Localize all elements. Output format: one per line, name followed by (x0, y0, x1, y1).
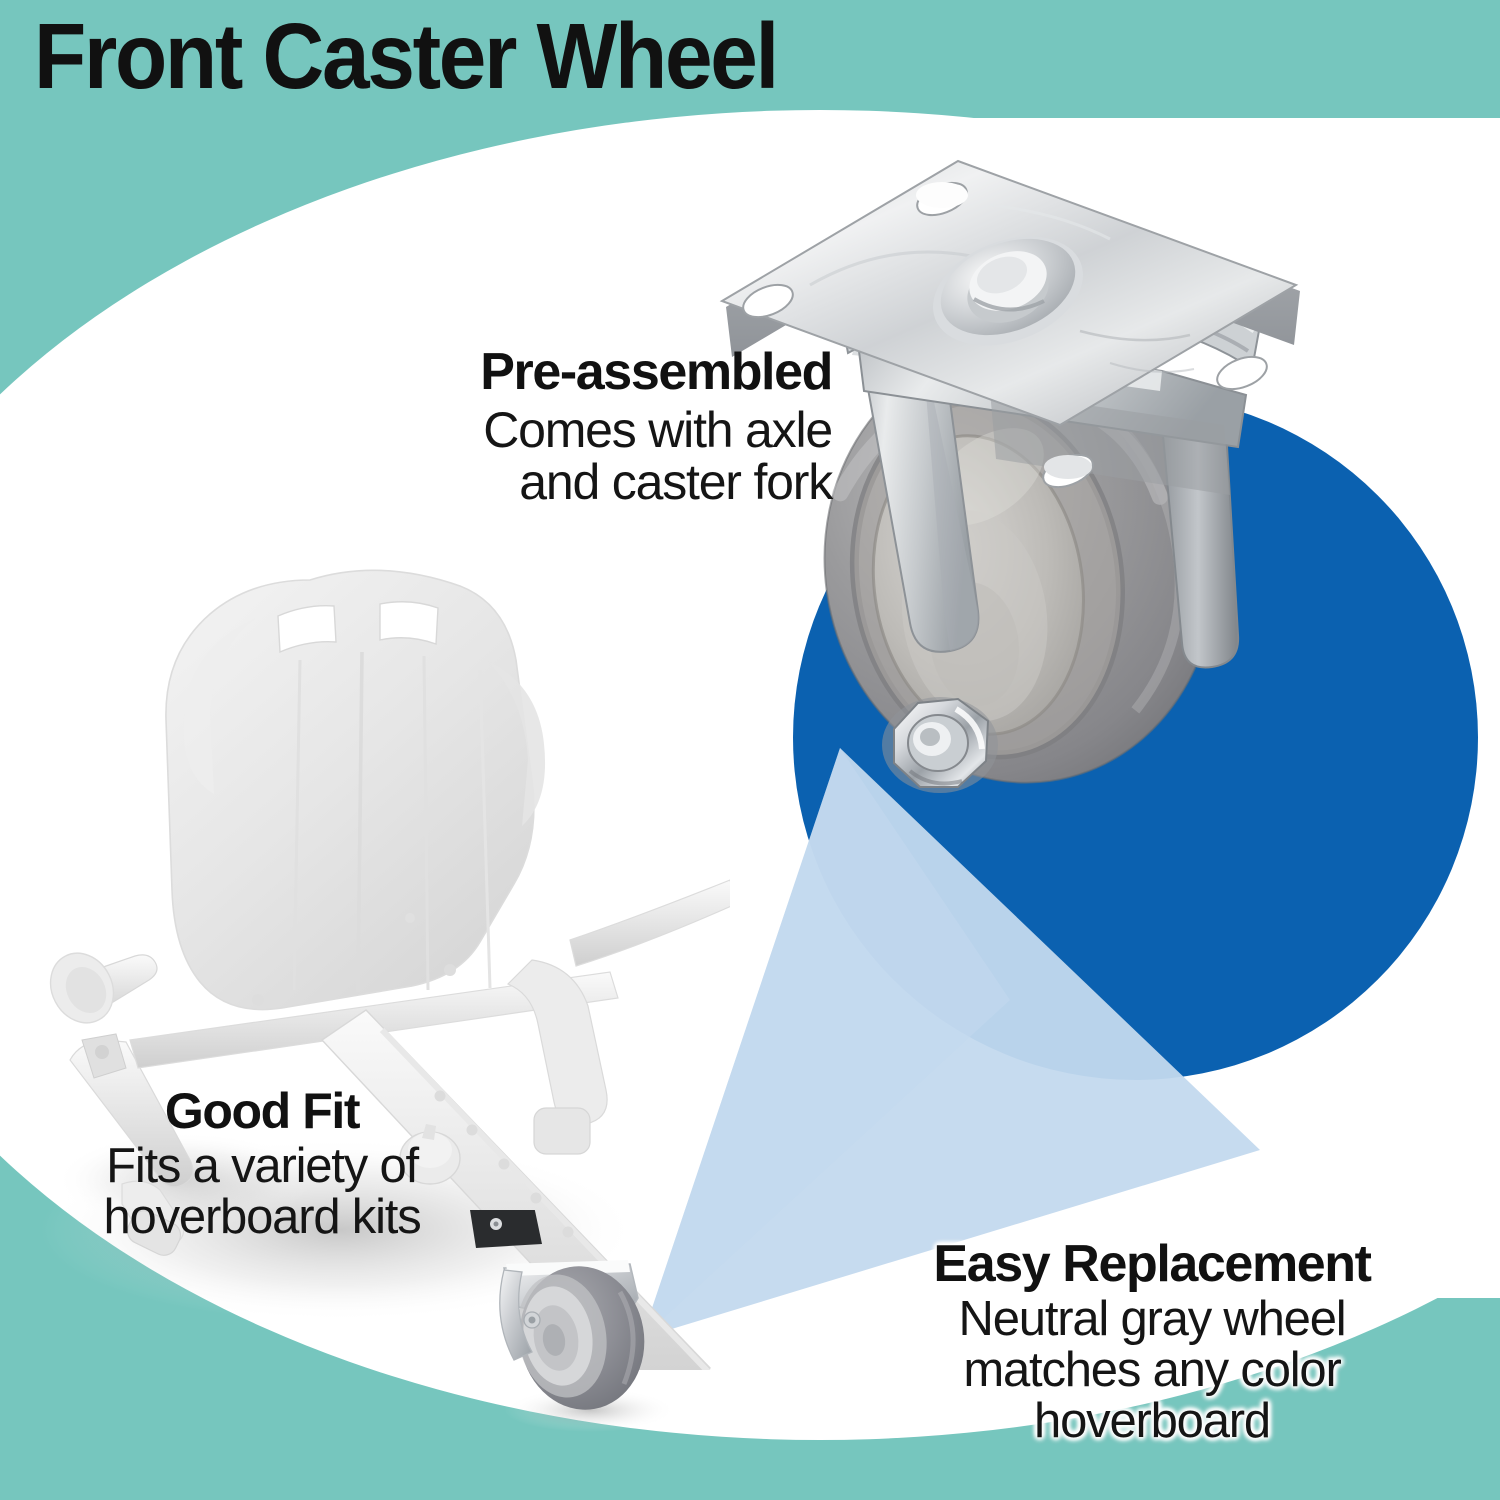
callout-body: Fits a variety of hoverboard kits (52, 1141, 472, 1243)
callout-body-line: Neutral gray wheel (852, 1294, 1452, 1345)
callout-easy-replacement: Easy Replacement Neutral gray wheel matc… (852, 1238, 1452, 1447)
callout-body-line: and caster fork (372, 456, 832, 508)
mounted-caster-detail (470, 1210, 770, 1440)
callout-heading: Easy Replacement (852, 1238, 1452, 1290)
callout-heading: Pre-assembled (372, 346, 832, 398)
callout-pre-assembled: Pre-assembled Comes with axle and caster… (372, 346, 832, 508)
callout-body-line: matches any color (852, 1345, 1452, 1396)
callout-heading: Good Fit (52, 1086, 472, 1136)
callout-body: Comes with axle and caster fork (372, 404, 832, 508)
hero-caster-wheel (690, 95, 1330, 925)
callout-body-line: hoverboard kits (52, 1192, 472, 1243)
callout-body-line: Comes with axle (372, 404, 832, 456)
page-title: Front Caster Wheel (34, 8, 777, 106)
callout-body-line: Fits a variety of (52, 1141, 472, 1192)
callout-body: Neutral gray wheel matches any color hov… (852, 1294, 1452, 1447)
callout-good-fit: Good Fit Fits a variety of hoverboard ki… (52, 1086, 472, 1243)
callout-body-line: hoverboard (852, 1396, 1452, 1447)
infographic-canvas: Front Caster Wheel (0, 0, 1500, 1500)
